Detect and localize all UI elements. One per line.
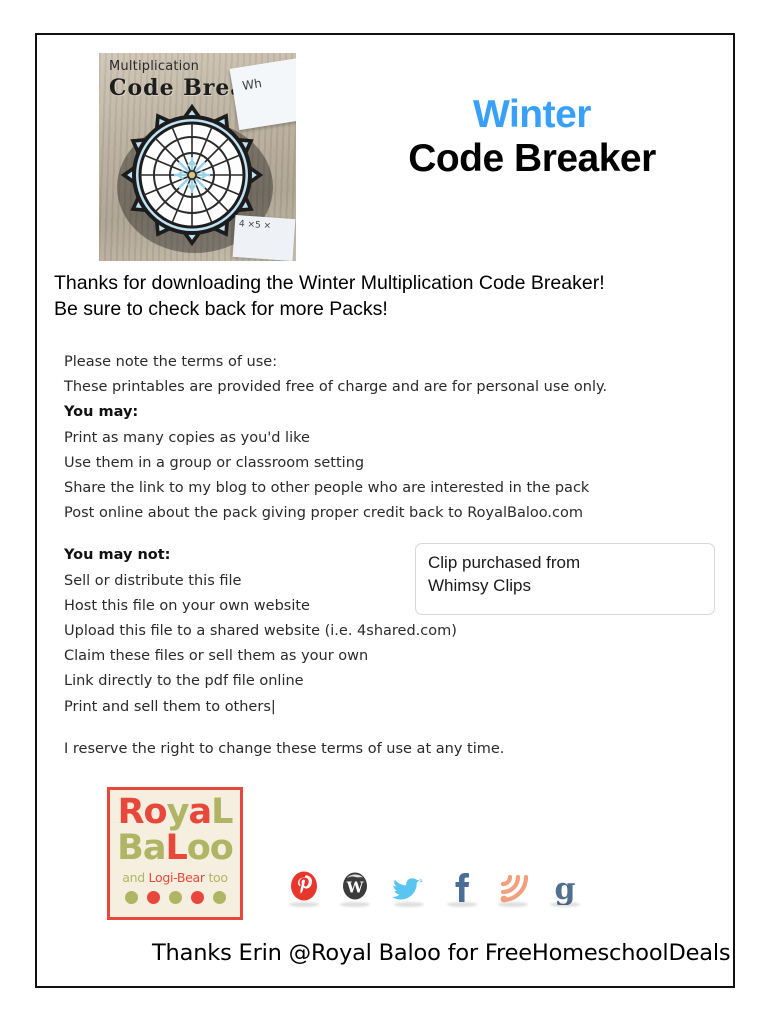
facebook-icon[interactable] (448, 868, 477, 908)
logo-baloo-oo: oo (187, 828, 233, 868)
twitter-icon[interactable] (392, 868, 426, 908)
terms-may-item: Share the link to my blog to other peopl… (64, 476, 714, 501)
terms-you-may-heading: You may: (64, 400, 714, 425)
icon-shadow (394, 902, 424, 907)
wordpress-icon[interactable]: W (341, 868, 370, 908)
royal-baloo-logo: RoyaL BaLoo and Logi-Bear too (107, 787, 243, 920)
intro-paragraph: Thanks for downloading the Winter Multip… (54, 270, 724, 323)
terms-may-not-item: Link directly to the pdf file online (64, 669, 714, 694)
cover-paper-sheet-bottom: 4 ×5 × (233, 215, 296, 261)
terms-note-heading: Please note the terms of use: (64, 350, 714, 375)
logo-dot-row (110, 891, 240, 904)
logo-royal-l: L (211, 792, 232, 832)
page-frame: Multiplication Code Breaker Wh (35, 33, 735, 988)
clip-credit-line-1: Clip purchased from (428, 552, 702, 575)
clip-credit-line-2: Whimsy Clips (428, 575, 702, 598)
icon-shadow (447, 902, 477, 907)
cover-paper-text-3: 4 ×5 × (239, 219, 272, 231)
terms-spacer (64, 720, 714, 737)
social-icon-row: W (289, 860, 579, 915)
logo-word-baloo: BaLoo (110, 830, 240, 866)
title-code-breaker: Code Breaker (337, 136, 727, 182)
logo-word-royal: RoyaL (110, 794, 240, 830)
terms-may-not-item: Upload this file to a shared website (i.… (64, 619, 714, 644)
logo-tagline-too: too (205, 870, 228, 885)
logo-dot (125, 891, 138, 904)
logo-royal-ro: Ro (118, 792, 167, 832)
page-title: Winter Code Breaker (337, 95, 727, 182)
logo-baloo-ba: Ba (117, 828, 165, 868)
google-icon[interactable]: g (550, 868, 579, 908)
svg-text:W: W (346, 878, 365, 896)
logo-baloo-l: L (165, 828, 186, 868)
icon-shadow (289, 902, 319, 907)
clip-credit-box: Clip purchased from Whimsy Clips (415, 543, 715, 615)
terms-may-not-item: Claim these files or sell them as your o… (64, 644, 714, 669)
logo-dot (169, 891, 182, 904)
rss-icon[interactable] (498, 868, 528, 908)
terms-may-item: Use them in a group or classroom setting (64, 451, 714, 476)
intro-line-2: Be sure to check back for more Packs! (54, 296, 724, 322)
cover-thumbnail-image: Multiplication Code Breaker Wh (99, 53, 296, 261)
logo-tagline-and: and (122, 870, 148, 885)
logo-dot (213, 891, 226, 904)
logo-royal-y: y (167, 792, 189, 832)
logo-tagline-logibear: Logi-Bear (149, 870, 205, 885)
svg-text:g: g (554, 872, 575, 905)
terms-note-body: These printables are provided free of ch… (64, 375, 714, 400)
terms-may-not-item: Print and sell them to others| (64, 695, 714, 720)
icon-shadow (550, 902, 580, 907)
title-winter: Winter (337, 95, 727, 136)
logo-tagline: and Logi-Bear too (110, 868, 240, 888)
terms-spacer (64, 526, 714, 543)
cover-label-multiplication: Multiplication (109, 59, 199, 74)
logo-dot (191, 891, 204, 904)
icon-shadow (340, 902, 370, 907)
pinterest-icon[interactable] (289, 868, 319, 908)
cover-paper-text-1: Wh (241, 76, 262, 93)
intro-line-1: Thanks for downloading the Winter Multip… (54, 270, 724, 296)
terms-may-item: Print as many copies as you'd like (64, 426, 714, 451)
icon-shadow (498, 902, 528, 907)
footer-thanks-text: Thanks Erin @Royal Baloo for FreeHomesch… (152, 940, 732, 966)
terms-may-item: Post online about the pack giving proper… (64, 501, 714, 526)
logo-royal-a: a (188, 792, 211, 832)
logo-dot (147, 891, 160, 904)
terms-reserve-rights: I reserve the right to change these term… (64, 737, 714, 762)
